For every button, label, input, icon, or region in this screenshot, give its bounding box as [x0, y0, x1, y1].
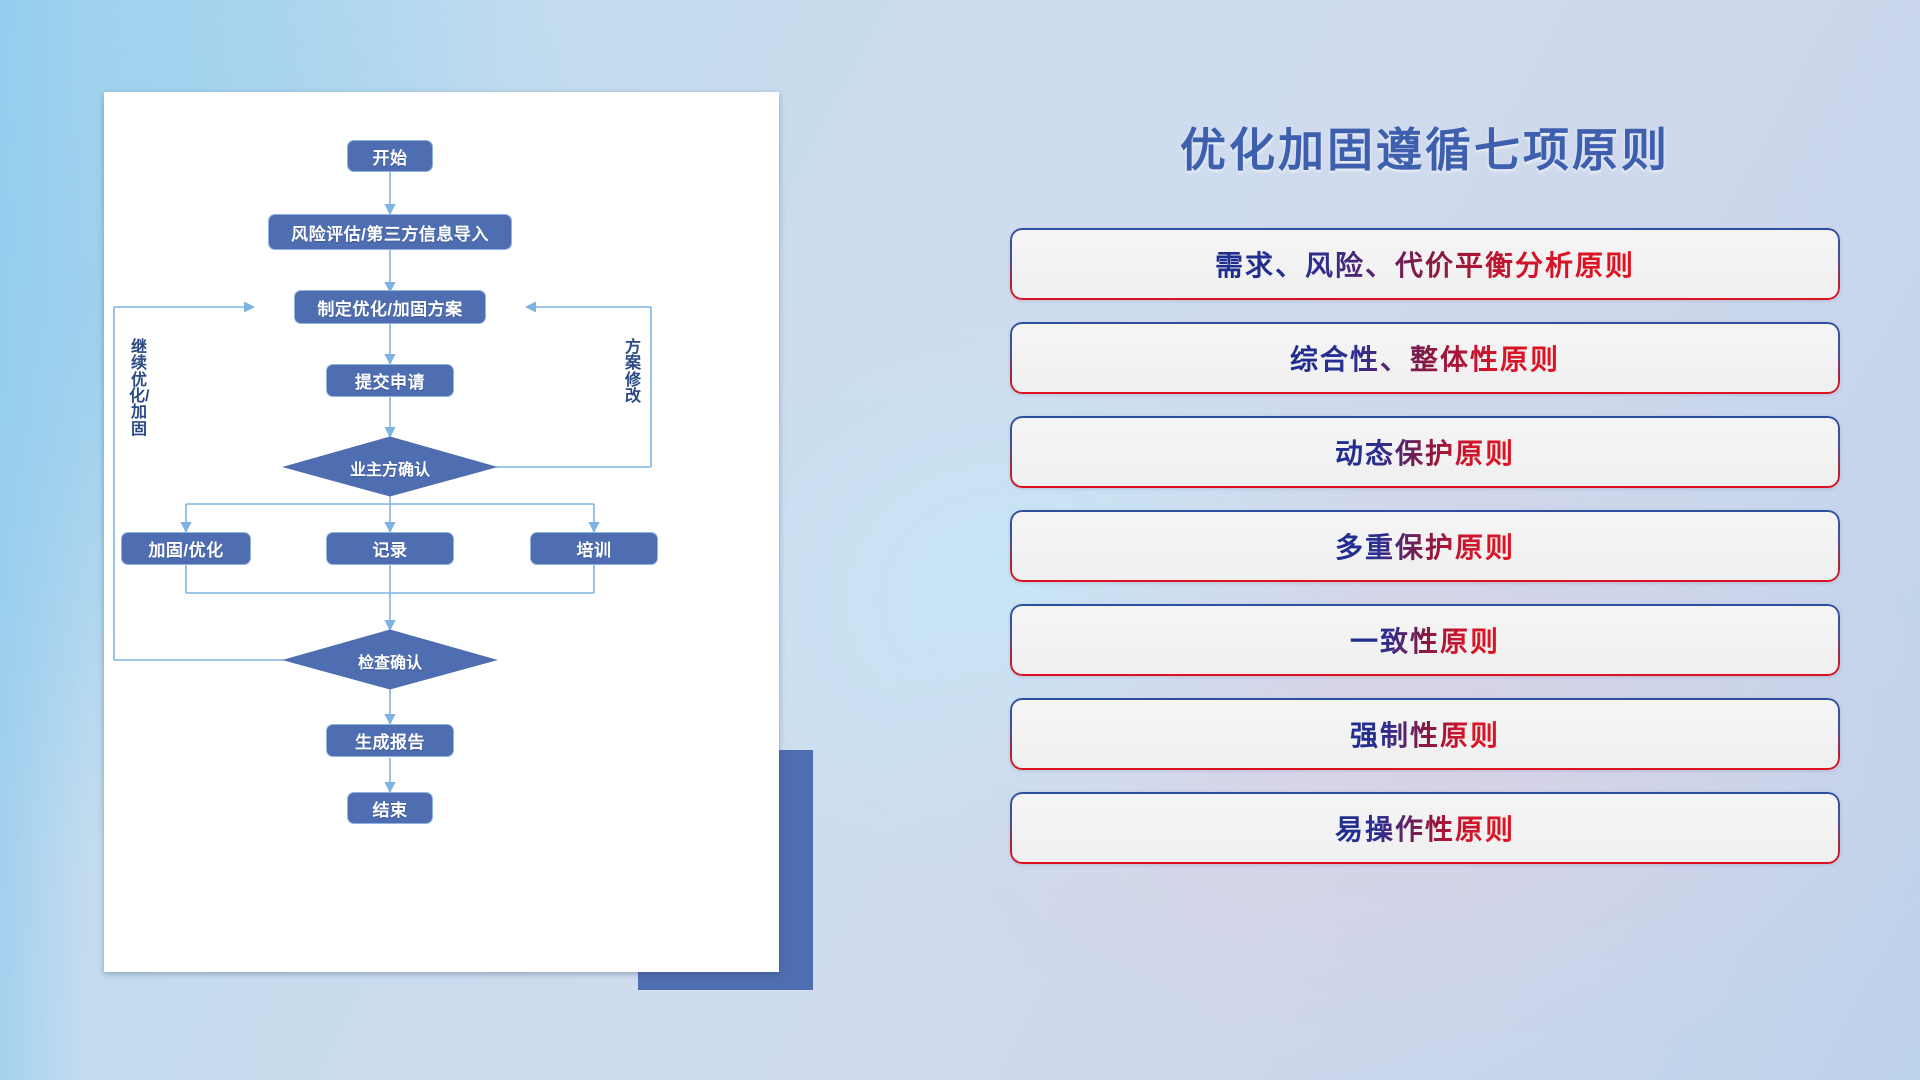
principle-item-6[interactable]: 强制性原则	[1010, 698, 1840, 770]
principle-label: 综合性、整体性原则	[1290, 338, 1560, 378]
principle-label: 易操作性原则	[1335, 808, 1515, 848]
flow-node-make-plan[interactable]: 制定优化/加固方案	[294, 290, 486, 324]
flow-node-reinforce-optimize[interactable]: 加固/优化	[121, 532, 251, 565]
decision-owner-confirm	[284, 437, 496, 496]
principle-label: 多重保护原则	[1335, 526, 1515, 566]
flow-node-generate-report[interactable]: 生成报告	[326, 724, 454, 757]
flow-node-end[interactable]: 结束	[347, 792, 433, 824]
page-title: 优化加固遵循七项原则	[1010, 114, 1840, 180]
principle-item-2[interactable]: 综合性、整体性原则	[1010, 322, 1840, 394]
flow-node-risk-assessment[interactable]: 风险评估/第三方信息导入	[268, 214, 512, 250]
principle-label: 强制性原则	[1350, 714, 1500, 754]
flow-node-submit-application[interactable]: 提交申请	[326, 364, 454, 397]
principle-label: 动态保护原则	[1335, 432, 1515, 472]
flowchart-card: 开始 风险评估/第三方信息导入 制定优化/加固方案 提交申请 加固/优化 记录 …	[104, 92, 779, 972]
principle-label: 需求、风险、代价平衡分析原则	[1215, 244, 1635, 284]
flow-node-training[interactable]: 培训	[530, 532, 658, 565]
principle-list: 需求、风险、代价平衡分析原则 综合性、整体性原则 动态保护原则 多重保护原则 一…	[1010, 228, 1840, 864]
principles-pane: 优化加固遵循七项原则 需求、风险、代价平衡分析原则 综合性、整体性原则 动态保护…	[1010, 92, 1840, 992]
flow-node-record[interactable]: 记录	[326, 532, 454, 565]
principle-item-4[interactable]: 多重保护原则	[1010, 510, 1840, 582]
principle-label: 一致性原则	[1350, 620, 1500, 660]
principle-item-7[interactable]: 易操作性原则	[1010, 792, 1840, 864]
principle-item-3[interactable]: 动态保护原则	[1010, 416, 1840, 488]
slide-canvas: 开始 风险评估/第三方信息导入 制定优化/加固方案 提交申请 加固/优化 记录 …	[0, 0, 1920, 1080]
principle-item-5[interactable]: 一致性原则	[1010, 604, 1840, 676]
decision-check-confirm	[284, 630, 496, 689]
edge-label-continue-optimize: 继续优化/加固	[129, 340, 149, 438]
principle-item-1[interactable]: 需求、风险、代价平衡分析原则	[1010, 228, 1840, 300]
flow-node-start[interactable]: 开始	[347, 140, 433, 172]
edge-label-plan-revision: 方案修改	[623, 340, 643, 405]
